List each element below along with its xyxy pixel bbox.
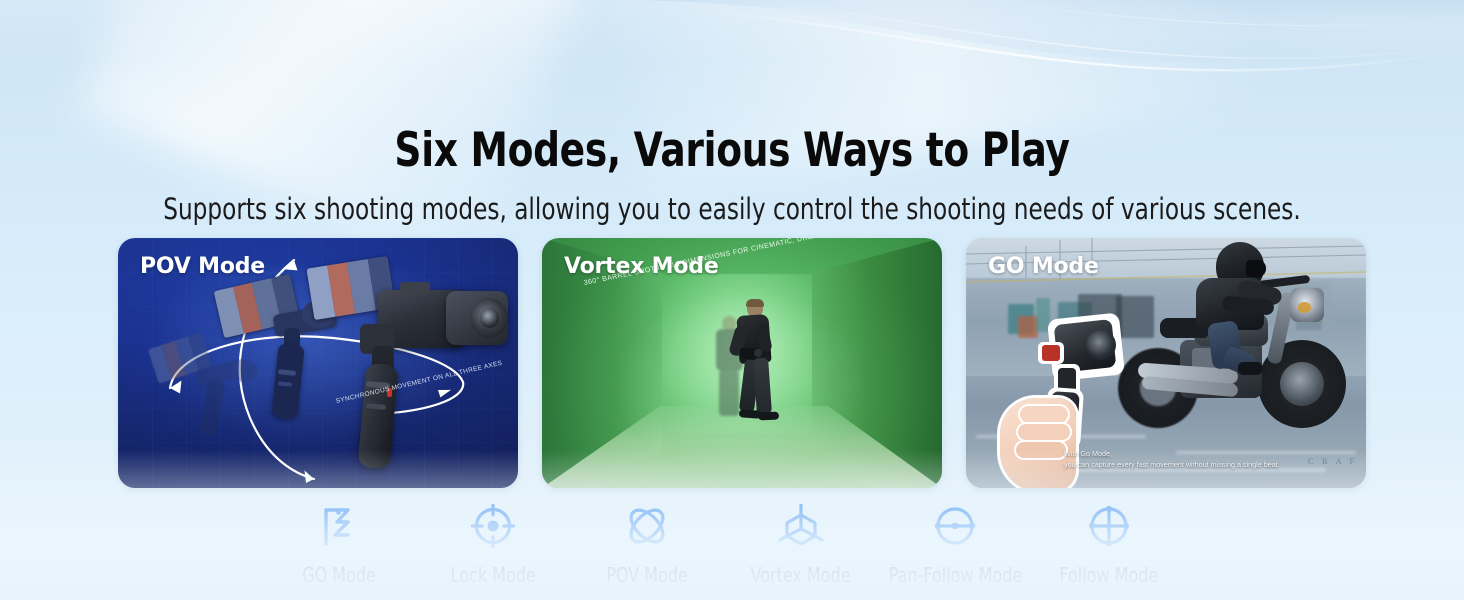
mode-item-vortex[interactable]: Vortex Mode	[726, 498, 876, 587]
card-pov-title: POV Mode	[140, 254, 265, 280]
card-vortex-title: Vortex Mode	[564, 254, 719, 280]
card-go-caption-line1: With Go Mode,	[1064, 448, 1280, 459]
mode-card-pov[interactable]: SYNCHRONOUS MOVEMENT ON ALL THREE AXES 3…	[118, 238, 518, 488]
person-with-camera	[728, 300, 784, 428]
cube-axes-icon[interactable]	[773, 498, 829, 554]
mode-icon-strip: GO Mode Lock Mode POV Mode	[264, 498, 1184, 587]
mode-item-go[interactable]: GO Mode	[264, 498, 414, 587]
mode-card-go[interactable]: With Go Mode, you can capture every fast…	[966, 238, 1366, 488]
six-modes-feature-banner: Six Modes, Various Ways to Play Supports…	[0, 0, 1464, 600]
mode-label-pan-follow: Pan-Follow Mode	[888, 563, 1022, 587]
crosshair-target-icon[interactable]	[465, 498, 521, 554]
mode-item-follow[interactable]: Follow Mode	[1034, 498, 1184, 587]
mode-label-go: GO Mode	[302, 563, 376, 587]
graffiti-mark	[1018, 316, 1038, 338]
heading-block: Six Modes, Various Ways to Play	[0, 124, 1464, 178]
mode-card-row: SYNCHRONOUS MOVEMENT ON ALL THREE AXES 3…	[118, 238, 1350, 488]
page-subtitle: Supports six shooting modes, allowing yo…	[146, 192, 1317, 226]
mode-item-pan-follow[interactable]: Pan-Follow Mode	[880, 498, 1030, 587]
decorative-wave-band	[0, 0, 1464, 120]
page-title: Six Modes, Various Ways to Play	[146, 124, 1317, 178]
mode-label-vortex: Vortex Mode	[751, 563, 851, 587]
running-figure-icon[interactable]	[311, 498, 367, 554]
mode-item-lock[interactable]: Lock Mode	[418, 498, 568, 587]
mode-label-follow: Follow Mode	[1060, 563, 1159, 587]
circle-cross-axis-icon[interactable]	[1081, 498, 1137, 554]
circle-horizontal-axis-icon[interactable]	[927, 498, 983, 554]
mode-label-pov: POV Mode	[606, 563, 688, 587]
mode-card-vortex[interactable]: 360° BARREL SHOT IN ALL DIMENSIONS FOR C…	[542, 238, 942, 488]
mode-label-lock: Lock Mode	[450, 563, 535, 587]
mode-item-pov[interactable]: POV Mode	[572, 498, 722, 587]
card-go-caption-line2: you can capture every fast movement with…	[1064, 459, 1280, 470]
card-go-watermark: C R A F T	[1308, 456, 1360, 466]
card-go-caption: With Go Mode, you can capture every fast…	[1064, 448, 1280, 470]
card-go-title: GO Mode	[988, 254, 1099, 280]
motorcycle-rider	[1108, 244, 1348, 452]
gyroscope-icon[interactable]	[619, 498, 675, 554]
